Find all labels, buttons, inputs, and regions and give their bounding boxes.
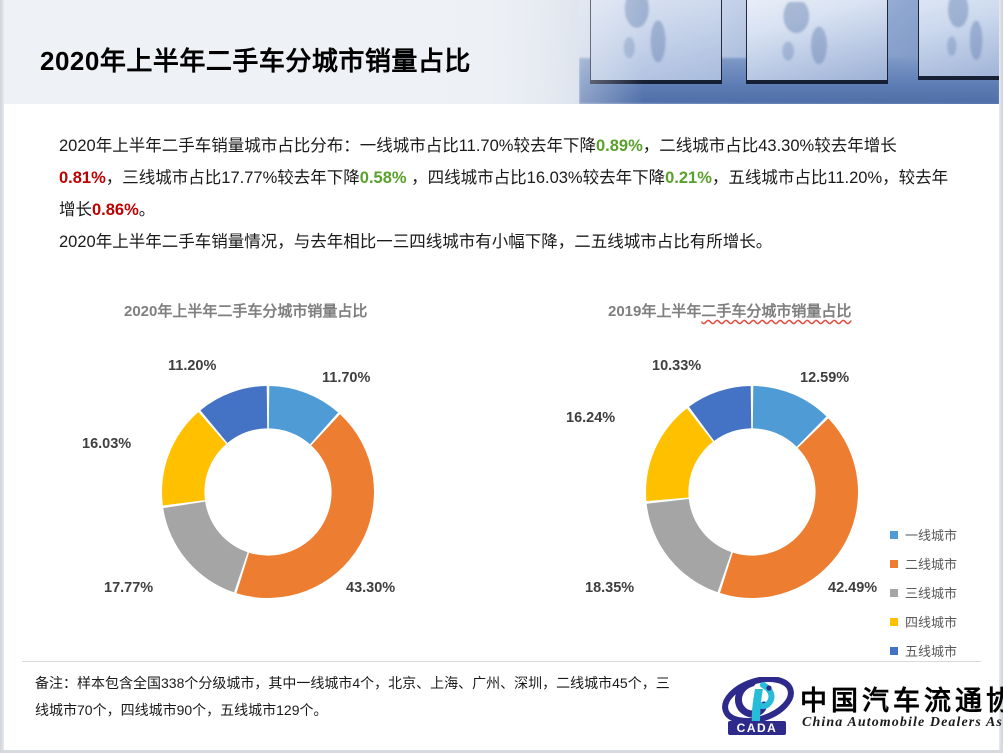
delta-value-tier5: 0.86% [92,201,139,219]
summary-text-d: ，四线城市占比16.03%较去年下降 [407,169,666,187]
cada-logo: CADA 中国汽车流通协会 China Automobile Dealers A… [722,675,984,739]
legend-swatch-icon-tier1 [890,531,898,539]
world-map-texture-icon [939,0,999,68]
donut-slices-2020 [162,386,374,598]
slice-label-2020-tier1: 11.70% [322,370,370,386]
slide-frame-left [0,0,4,753]
donut-slices-2019 [646,386,858,598]
legend-item-tier1[interactable]: 一线城市 [890,520,990,549]
chart-title-2020: 2020年上半年二手车分城市销量占比 [124,300,367,321]
summary-line-1: 2020年上半年二手车销量城市占比分布：一线城市占比11.70%较去年下降0.8… [59,130,949,226]
slice-label-2020-tier2: 43.30% [346,580,395,596]
summary-line-2: 2020年上半年二手车销量情况，与去年相比一三四线城市有小幅下降，二五线城市占比… [59,226,949,258]
slice-label-2019-tier2: 42.49% [828,580,877,596]
summary-text-b: ，二线城市占比43.30%较去年增长 [643,137,897,155]
chart-title-2019-prefix: 2019年上半年 [608,303,701,320]
footnote-line-1: 备注：样本包含全国338个分级城市，其中一线城市4个，北京、上海、广州、深圳，二… [35,670,695,697]
legend-swatch-icon-tier2 [890,560,898,568]
donut-slice-三线城市[interactable] [647,499,732,592]
delta-value-tier2: 0.81% [59,169,106,187]
cada-logo-name-cn: 中国汽车流通协会 [800,679,1003,718]
world-map-texture-icon [772,2,853,72]
slice-label-2019-tier3: 18.35% [585,580,634,596]
summary-text-a: 2020年上半年二手车销量城市占比分布：一线城市占比11.70%较去年下降 [59,137,596,155]
footnote: 备注：样本包含全国338个分级城市，其中一线城市4个，北京、上海、广州、深圳，二… [35,670,695,724]
slice-label-2019-tier5: 10.33% [652,358,701,374]
delta-value-tier3: 0.58% [360,169,407,187]
legend-item-tier3[interactable]: 三线城市 [890,578,990,607]
legend-label-tier3: 三线城市 [905,583,957,602]
slide-header-banner: 2020年上半年二手车分城市销量占比 [4,0,999,104]
legend-swatch-icon-tier4 [890,618,898,626]
slice-label-2019-tier1: 12.59% [800,370,849,386]
summary-text-c: ，三线城市占比17.77%较去年下降 [106,169,360,187]
legend-label-tier4: 四线城市 [905,612,957,631]
legend-label-tier1: 一线城市 [905,525,957,544]
slice-label-2020-tier5: 11.20% [168,358,216,374]
cada-logo-mark-text: CADA [737,721,778,735]
footnote-line-2: 线城市70个，四线城市90个，五线城市129个。 [35,697,695,724]
chart-title-2019-flagged: 二手车分城市销量占比 [701,303,851,320]
chart-title-2019: 2019年上半年二手车分城市销量占比 [608,300,851,321]
slice-label-2019-tier4: 16.24% [566,410,615,426]
legend-item-tier2[interactable]: 二线城市 [890,549,990,578]
donut-slice-三线城市[interactable] [163,502,247,593]
legend-swatch-icon-tier5 [890,647,898,655]
slice-label-2020-tier4: 16.03% [82,436,131,452]
summary-paragraph: 2020年上半年二手车销量城市占比分布：一线城市占比11.70%较去年下降0.8… [59,130,949,258]
delta-value-tier4: 0.21% [665,169,712,187]
donut-slice-二线城市[interactable] [720,418,858,598]
legend-item-tier4[interactable]: 四线城市 [890,607,990,636]
chart-legend: 一线城市 二线城市 三线城市 四线城市 五线城市 [890,520,990,665]
page-title: 2020年上半年二手车分城市销量占比 [40,41,471,78]
footer-divider [22,661,981,662]
legend-label-tier2: 二线城市 [905,554,957,573]
donut-slice-二线城市[interactable] [236,414,374,598]
slide-frame-right [999,0,1003,753]
slide-canvas: 2020年上半年二手车分城市销量占比 2020年上半年二手车销量城市占比分布：一… [0,0,1003,753]
header-cube-icon [919,0,999,76]
summary-text-f: 。 [139,201,156,219]
cada-logo-mark-icon: CADA [722,677,794,737]
legend-swatch-icon-tier3 [890,589,898,597]
legend-label-tier5: 五线城市 [905,641,957,660]
header-cube-icon [747,0,887,80]
delta-value-tier1: 0.89% [596,137,643,155]
cada-logo-name-en: China Automobile Dealers Association [802,715,1003,731]
slice-label-2020-tier3: 17.77% [104,580,153,596]
